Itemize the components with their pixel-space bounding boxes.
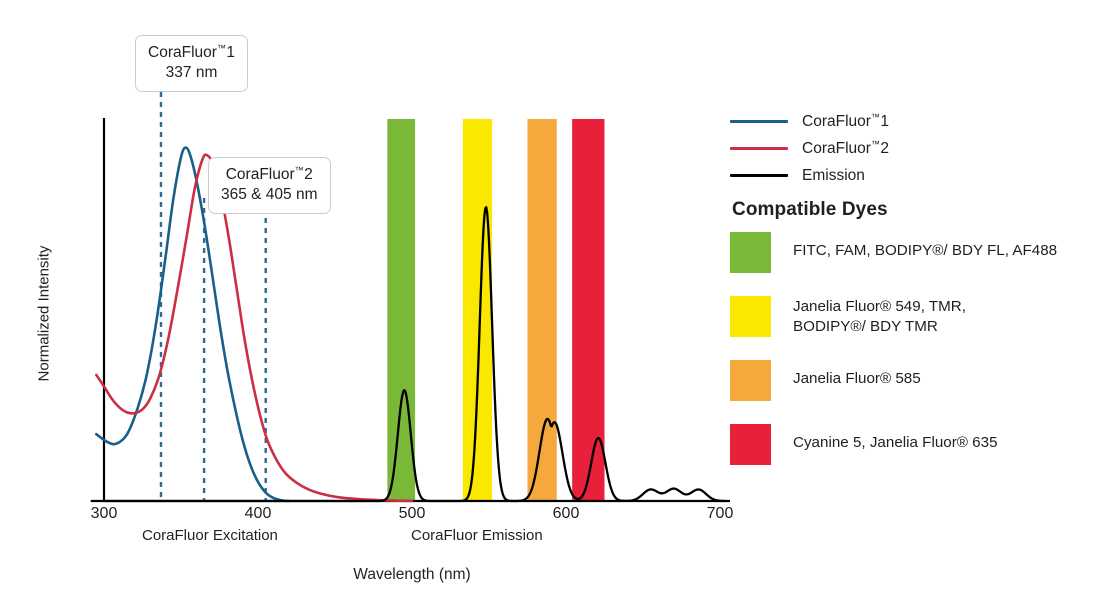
fluorescence-spectra-figure: CoraFluor™1 337 nm CoraFluor™2 365 & 405… bbox=[0, 0, 1110, 612]
trademark-icon: ™ bbox=[871, 112, 881, 122]
dye-color-swatch-green bbox=[730, 232, 771, 273]
legend-item-corafluor-2: CoraFluor™2 bbox=[730, 135, 1110, 162]
callout-1-value: 337 nm bbox=[148, 63, 235, 83]
trademark-icon: ™ bbox=[295, 165, 305, 175]
compatible-dyes-list: FITC, FAM, BODIPY®/ BDY FL, AF488 Janeli… bbox=[730, 232, 1110, 488]
dye-row-cyanine-5: Cyanine 5, Janelia Fluor® 635 bbox=[730, 424, 1110, 465]
dye-row-fitc: FITC, FAM, BODIPY®/ BDY FL, AF488 bbox=[730, 232, 1110, 273]
range-label-excitation: CoraFluor Excitation bbox=[142, 527, 278, 544]
legend-item-corafluor-1: CoraFluor™1 bbox=[730, 108, 1110, 135]
dye-band-yellow-band bbox=[463, 119, 492, 501]
compatible-dyes-title: Compatible Dyes bbox=[732, 199, 888, 221]
dye-label-cyanine-5: Cyanine 5, Janelia Fluor® 635 bbox=[793, 424, 998, 453]
legend-line-swatch-emission bbox=[730, 174, 788, 176]
trademark-icon: ™ bbox=[217, 43, 227, 53]
x-tick-600: 600 bbox=[536, 505, 596, 523]
x-axis-title: Wavelength (nm) bbox=[262, 566, 562, 584]
x-tick-300: 300 bbox=[74, 505, 134, 523]
dye-color-swatch-red bbox=[730, 424, 771, 465]
legend-label-emission: Emission bbox=[802, 167, 865, 185]
dye-label-fitc: FITC, FAM, BODIPY®/ BDY FL, AF488 bbox=[793, 232, 1057, 261]
trademark-icon: ™ bbox=[871, 139, 881, 149]
dye-color-swatch-yellow bbox=[730, 296, 771, 337]
legend-0-suffix: 1 bbox=[880, 113, 889, 130]
legend-line-swatch-corafluor-2 bbox=[730, 147, 788, 149]
y-axis-title: Normalized Intensity bbox=[36, 224, 53, 404]
dye-label-janelia-549: Janelia Fluor® 549, TMR, BODIPY®/ BDY TM… bbox=[793, 296, 966, 337]
legend-0-text: CoraFluor bbox=[802, 113, 871, 130]
dye-row-janelia-549: Janelia Fluor® 549, TMR, BODIPY®/ BDY TM… bbox=[730, 296, 1110, 337]
series-legend: CoraFluor™1 CoraFluor™2 Emission bbox=[730, 108, 1110, 189]
legend-line-swatch-corafluor-1 bbox=[730, 120, 788, 122]
dye-color-swatch-orange bbox=[730, 360, 771, 401]
legend-label-corafluor-2: CoraFluor™2 bbox=[802, 139, 889, 158]
callout-corafluor-1: CoraFluor™1 337 nm bbox=[135, 35, 248, 92]
x-tick-500: 500 bbox=[382, 505, 442, 523]
x-tick-400: 400 bbox=[228, 505, 288, 523]
dye-band-red-band bbox=[572, 119, 604, 501]
callout-1-name: CoraFluor bbox=[148, 44, 217, 61]
callout-1-suffix: 1 bbox=[226, 44, 235, 61]
dye-label-line-1: Janelia Fluor® 549, TMR, bbox=[793, 298, 966, 315]
callout-2-name: CoraFluor bbox=[226, 166, 295, 183]
legend-label-corafluor-1: CoraFluor™1 bbox=[802, 112, 889, 131]
dye-band-orange-band bbox=[528, 119, 557, 501]
range-label-emission: CoraFluor Emission bbox=[411, 527, 543, 544]
callout-corafluor-2: CoraFluor™2 365 & 405 nm bbox=[208, 157, 331, 214]
callout-2-value: 365 & 405 nm bbox=[221, 185, 318, 205]
legend-1-text: CoraFluor bbox=[802, 140, 871, 157]
dye-row-janelia-585: Janelia Fluor® 585 bbox=[730, 360, 1110, 401]
legend-item-emission: Emission bbox=[730, 162, 1110, 189]
plot-panel: CoraFluor™1 337 nm CoraFluor™2 365 & 405… bbox=[0, 0, 730, 612]
legend-1-suffix: 2 bbox=[880, 140, 889, 157]
dye-label-line-2: BODIPY®/ BDY TMR bbox=[793, 318, 938, 335]
x-tick-700: 700 bbox=[690, 505, 750, 523]
callout-2-suffix: 2 bbox=[304, 166, 313, 183]
dye-label-janelia-585: Janelia Fluor® 585 bbox=[793, 360, 921, 389]
